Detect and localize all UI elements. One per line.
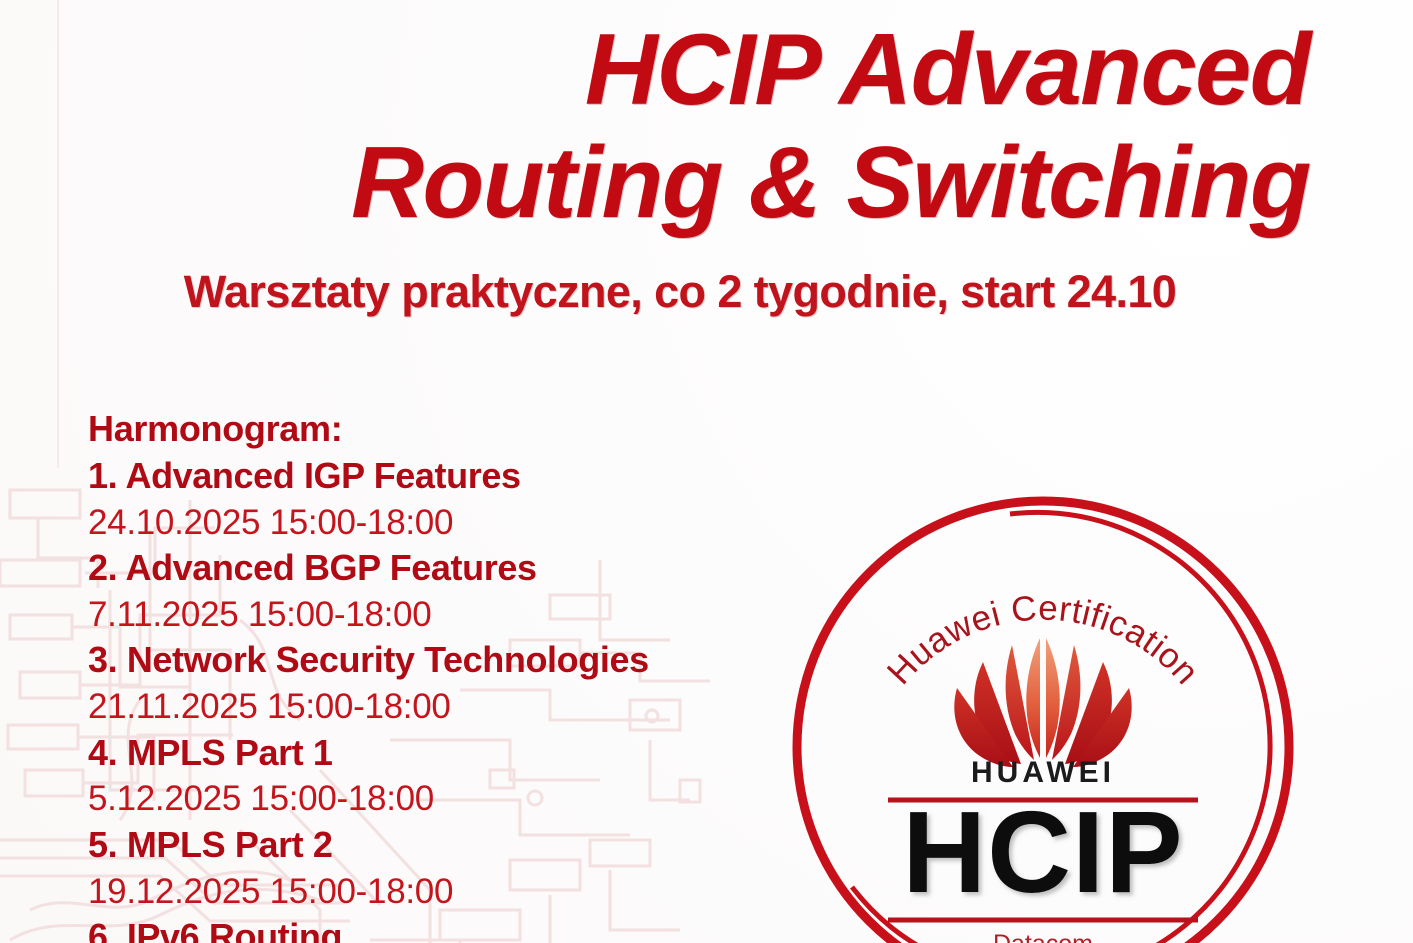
schedule-heading: Harmonogram: (88, 406, 808, 453)
schedule-item-date: 24.10.2025 15:00-18:00 (88, 500, 808, 546)
schedule-item-title: 4. MPLS Part 1 (88, 730, 808, 777)
schedule-item-date: 21.11.2025 15:00-18:00 (88, 684, 808, 730)
list-item: 4. MPLS Part 1 5.12.2025 15:00-18:00 (88, 730, 808, 822)
schedule-item-title: 1. Advanced IGP Features (88, 453, 808, 500)
list-item: 5. MPLS Part 2 19.12.2025 15:00-18:00 (88, 822, 808, 914)
poster-canvas: HCIP Advanced Routing & Switching Warszt… (0, 0, 1413, 943)
badge-level-hcip: HCIP (902, 787, 1183, 917)
badge-arc-text: Huawei Certification (880, 588, 1207, 692)
list-item: 2. Advanced BGP Features 7.11.2025 15:00… (88, 545, 808, 637)
huawei-flower-logo (954, 638, 1131, 767)
badge-track: Datacom (993, 930, 1093, 943)
schedule-block: Harmonogram: 1. Advanced IGP Features 24… (88, 406, 808, 943)
schedule-item-date: 5.12.2025 15:00-18:00 (88, 776, 808, 822)
list-item: 3. Network Security Technologies 21.11.2… (88, 637, 808, 729)
list-item: 6. IPv6 Routing (88, 914, 808, 943)
schedule-item-title: 6. IPv6 Routing (88, 914, 808, 943)
schedule-item-title: 5. MPLS Part 2 (88, 822, 808, 869)
schedule-item-date: 7.11.2025 15:00-18:00 (88, 592, 808, 638)
schedule-item-title: 3. Network Security Technologies (88, 637, 808, 684)
huawei-certification-badge: Huawei Certification HUAWEI (788, 492, 1298, 943)
huawei-wordmark: HUAWEI (971, 756, 1115, 789)
subtitle: Warsztaty praktyczne, co 2 tygodnie, sta… (64, 266, 1296, 318)
schedule-item-title: 2. Advanced BGP Features (88, 545, 808, 592)
list-item: 1. Advanced IGP Features 24.10.2025 15:0… (88, 453, 808, 545)
page-title: HCIP Advanced Routing & Switching (0, 14, 1310, 240)
schedule-item-date: 19.12.2025 15:00-18:00 (88, 869, 808, 915)
